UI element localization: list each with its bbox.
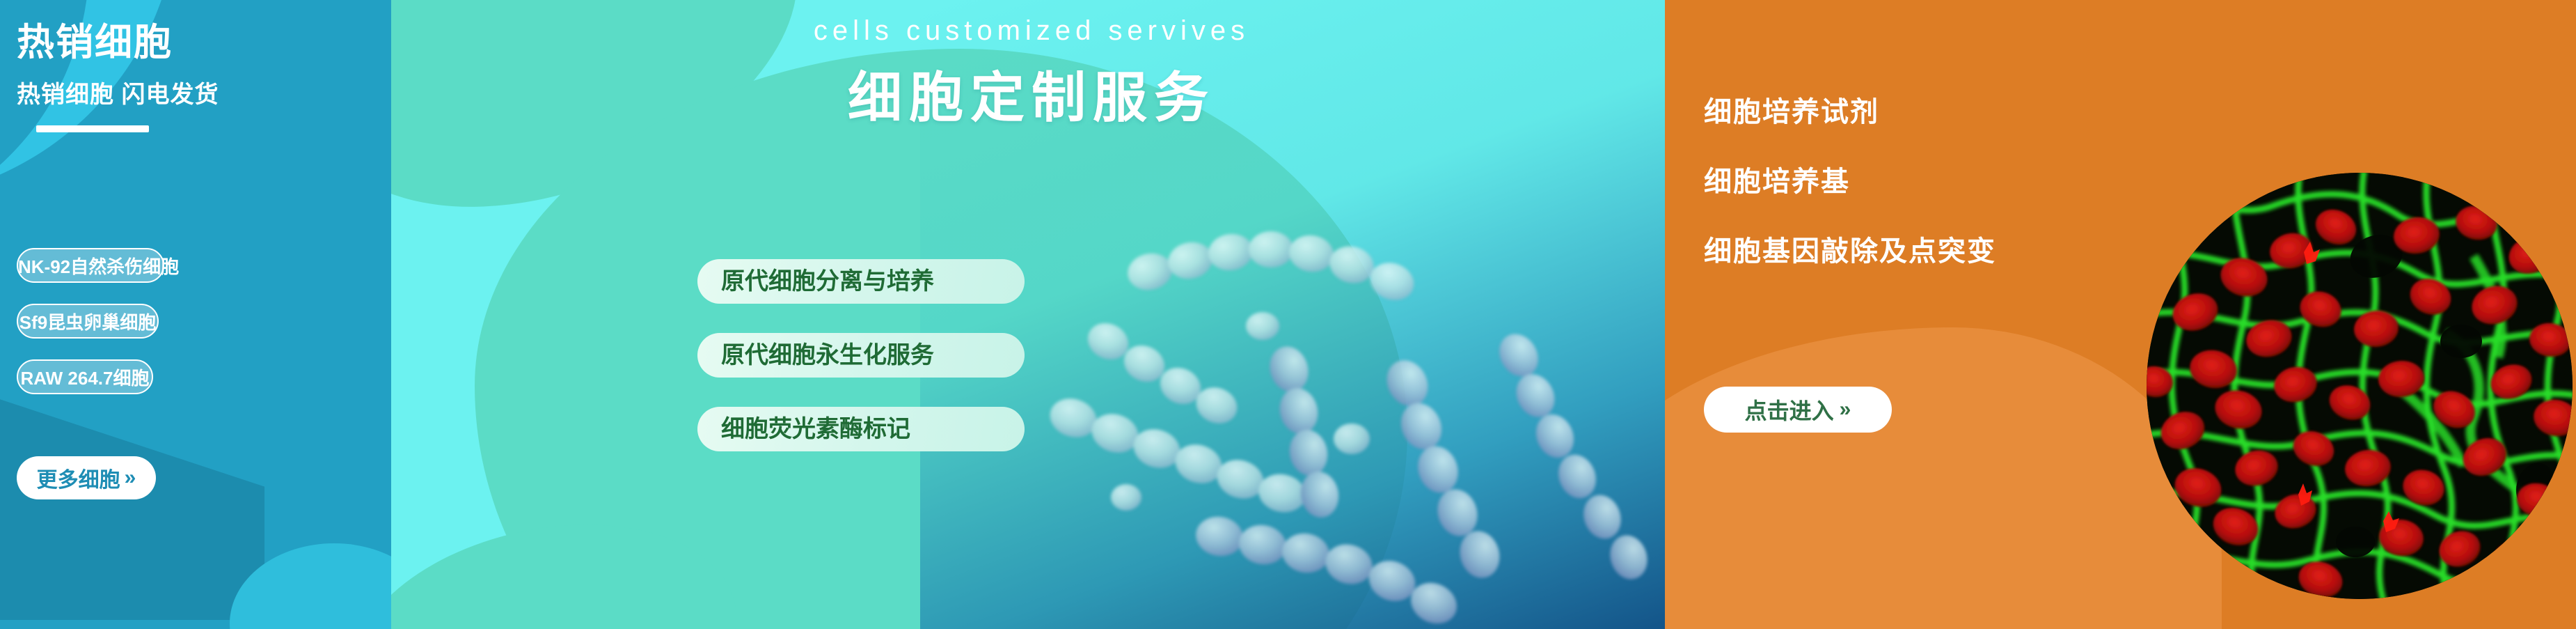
title-divider [36,125,149,132]
service-pill-primary-cell-isolation[interactable]: 原代细胞分离与培养 [697,259,1025,304]
promo-banner: 热销细胞 热销细胞 闪电发货 NK-92自然杀伤细胞 Sf9昆虫卵巢细胞 RAW… [0,0,2576,629]
reagent-line-culture-reagent[interactable]: 细胞培养试剂 [1704,89,1879,130]
enter-button-label: 点击进入 [1745,394,1834,426]
reagent-line-gene-knockout[interactable]: 细胞基因敲除及点突变 [1704,228,1996,269]
cell-pill-sf9[interactable]: Sf9昆虫卵巢细胞 [17,304,159,339]
service-pill-immortalization[interactable]: 原代细胞永生化服务 [697,333,1025,378]
fluorescence-cell-photo [2147,173,2573,599]
service-heading: 细胞定制服务 [711,54,1352,132]
hot-cells-content: 热销细胞 热销细胞 闪电发货 NK-92自然杀伤细胞 Sf9昆虫卵巢细胞 RAW… [0,0,391,629]
fluorescence-cell-photo-graphic [2147,173,2573,599]
hot-cells-panel: 热销细胞 热销细胞 闪电发货 NK-92自然杀伤细胞 Sf9昆虫卵巢细胞 RAW… [0,0,391,629]
double-chevron-right-icon: » [125,467,136,488]
reagents-panel: 细胞培养试剂 细胞培养基 细胞基因敲除及点突变 点击进入 » [1665,0,2576,629]
cell-pill-nk92[interactable]: NK-92自然杀伤细胞 [17,248,164,283]
more-cells-button-label: 更多细胞 [37,463,120,493]
hot-cells-title: 热销细胞 [17,11,173,66]
service-eyebrow-text: cells customized servives [753,15,1310,47]
enter-button[interactable]: 点击进入 » [1704,387,1892,433]
bacteria-chain-illustration [990,209,1665,629]
decorative-orange-blob [1665,327,2222,629]
custom-service-panel: cells customized servives 细胞定制服务 原代细胞分离与… [391,0,1665,629]
more-cells-button[interactable]: 更多细胞 » [17,456,156,499]
hot-cells-subtitle: 热销细胞 闪电发货 [17,75,219,109]
cell-pill-raw2647[interactable]: RAW 264.7细胞 [17,359,153,394]
double-chevron-right-icon: » [1840,399,1851,420]
reagent-line-culture-medium[interactable]: 细胞培养基 [1704,159,1850,199]
service-pill-luciferase-labeling[interactable]: 细胞荧光素酶标记 [697,407,1025,451]
